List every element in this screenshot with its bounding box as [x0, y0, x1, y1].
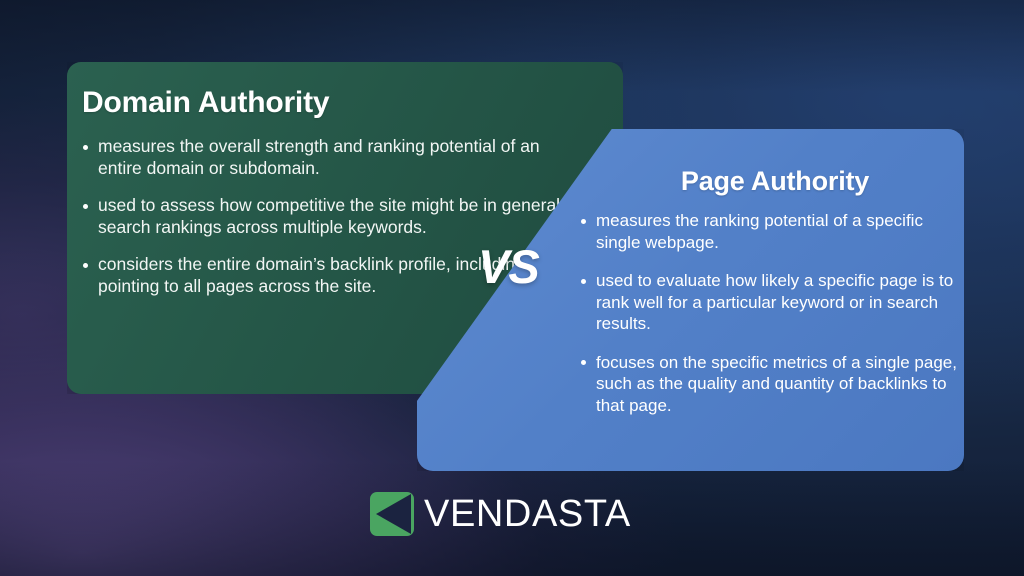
list-item: focuses on the specific metrics of a sin… — [580, 352, 970, 417]
domain-authority-title: Domain Authority — [82, 86, 587, 120]
list-item: used to evaluate how likely a specific p… — [580, 270, 970, 335]
list-item: measures the ranking potential of a spec… — [580, 210, 970, 253]
list-item: used to assess how competitive the site … — [82, 195, 587, 238]
page-authority-title: Page Authority — [580, 166, 970, 197]
list-item: measures the overall strength and rankin… — [82, 136, 587, 179]
page-authority-bullet-list: measures the ranking potential of a spec… — [580, 210, 970, 416]
vendasta-wordmark: VENDASTA — [424, 494, 631, 534]
vendasta-logo: VENDASTA — [370, 492, 631, 536]
vendasta-mark-icon — [370, 492, 414, 536]
infographic-canvas: Domain Authority measures the overall st… — [0, 0, 1024, 576]
versus-label: VS — [478, 243, 539, 290]
page-authority-content: Page Authority measures the ranking pote… — [580, 166, 970, 433]
